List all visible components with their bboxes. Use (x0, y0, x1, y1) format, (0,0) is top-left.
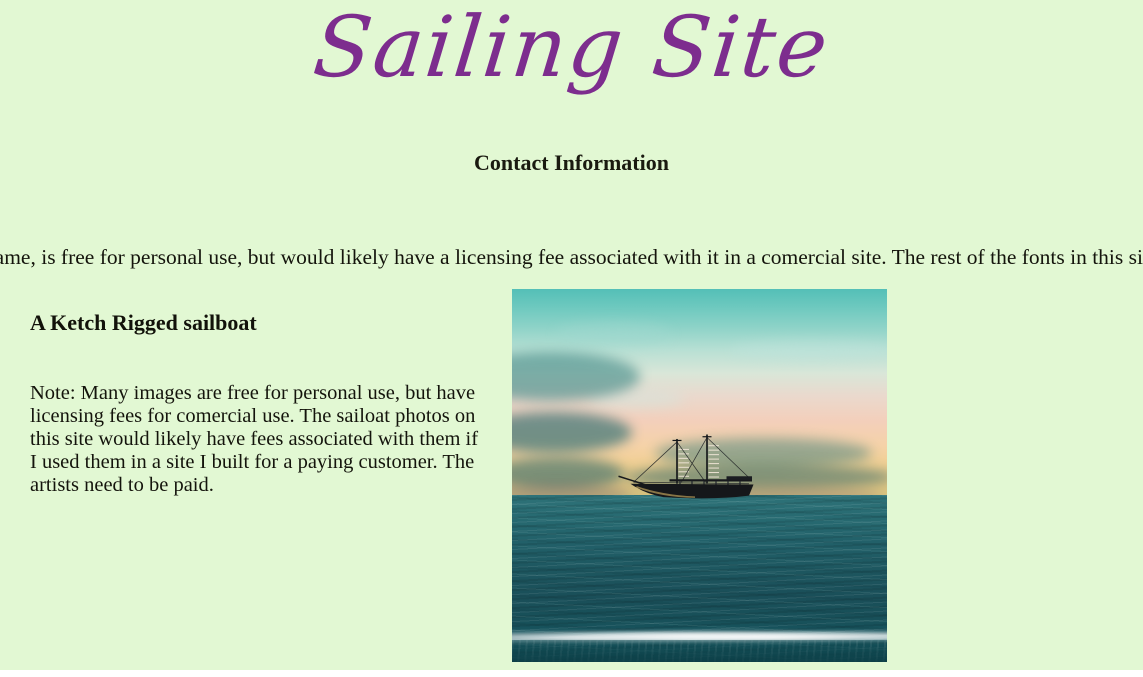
sailboat-photo (512, 289, 887, 662)
font-credit-line: The font used for the site name, is free… (0, 243, 1143, 271)
sea-region (512, 495, 887, 662)
page-title: Sailing Site (0, 0, 1143, 102)
sailboat-icon (617, 433, 767, 508)
sailboat-photo-frame (512, 289, 887, 662)
page-bottom-strip (0, 670, 1143, 677)
content-area: A Ketch Rigged sailboat Note: Many image… (0, 289, 1143, 670)
article-column: A Ketch Rigged sailboat Note: Many image… (30, 289, 490, 497)
sailing-site-page: Sailing Site Contact Information The fon… (0, 0, 1143, 670)
image-licensing-note: Note: Many images are free for personal … (30, 382, 485, 497)
contact-information-heading: Contact Information (0, 150, 1143, 176)
breaking-surf (512, 640, 887, 662)
cloud-wisp (730, 341, 888, 360)
cloud-wisp (557, 323, 670, 345)
article-heading: A Ketch Rigged sailboat (30, 310, 490, 336)
